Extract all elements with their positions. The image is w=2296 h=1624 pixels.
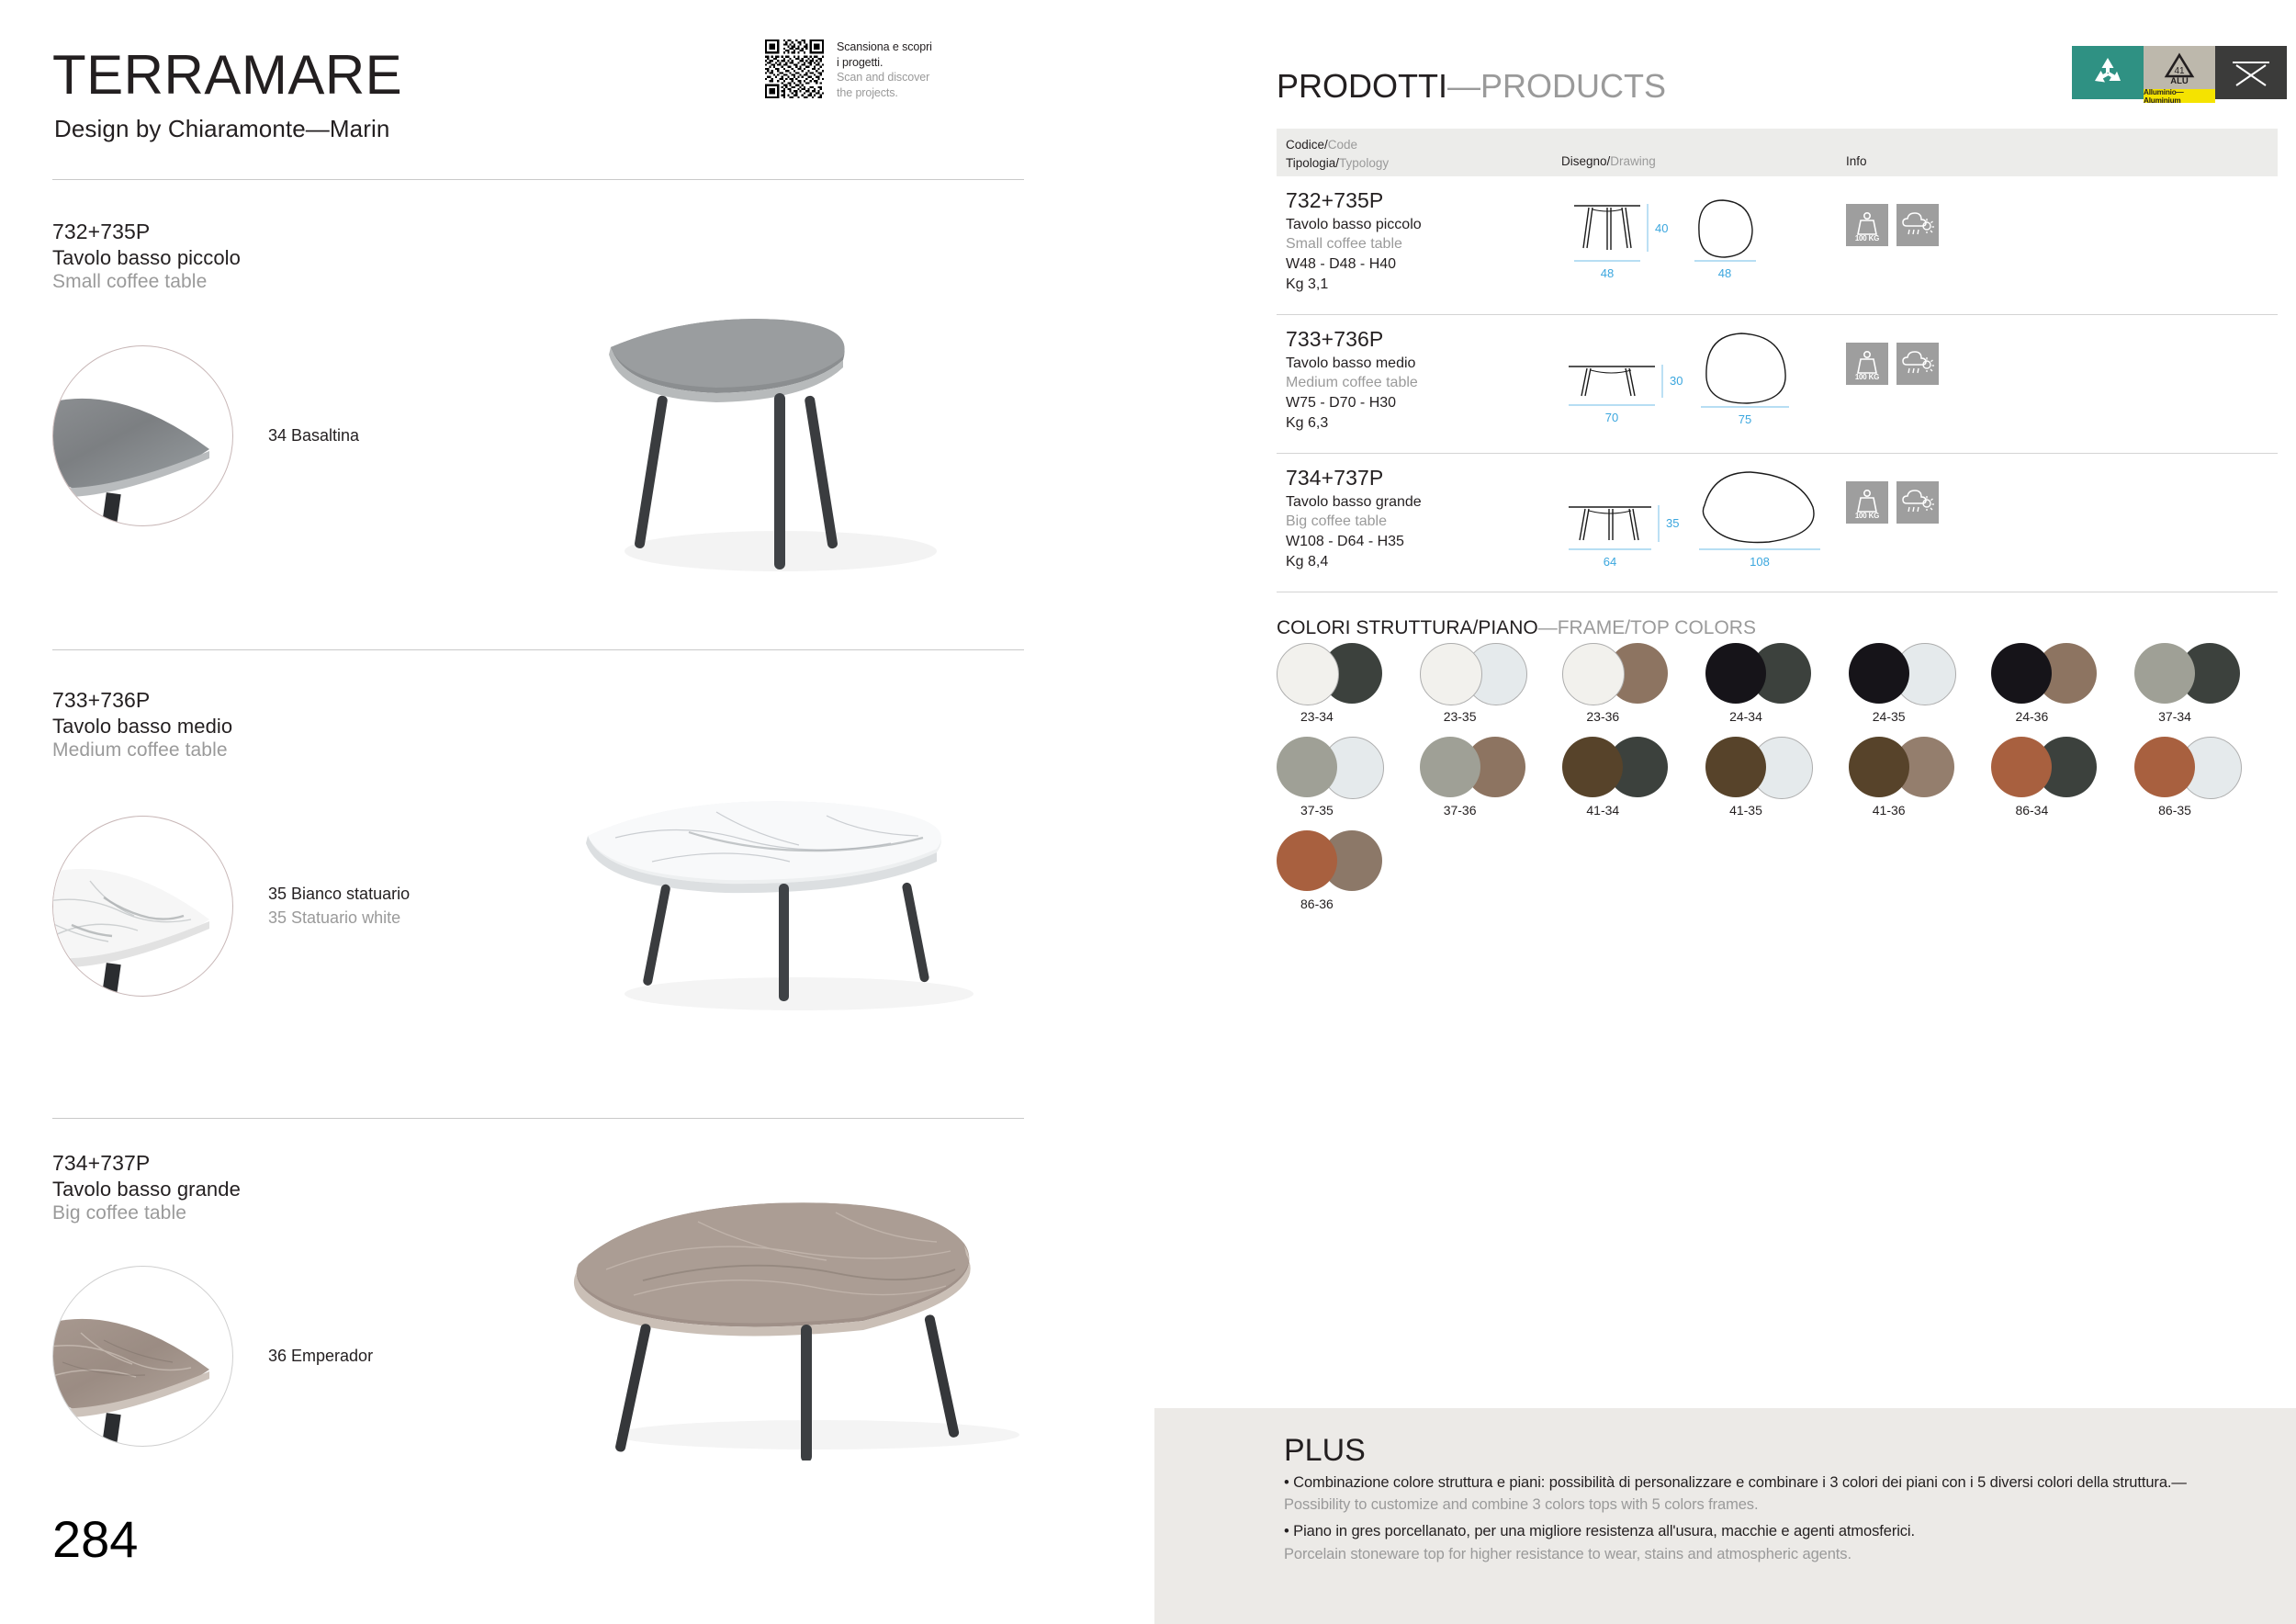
finish-swatch-photo <box>52 816 233 997</box>
finish-swatch-photo <box>52 345 233 526</box>
qr-caption: Scansiona e scopri i progetti. Scan and … <box>837 39 932 101</box>
alu-recycle-icon: 41 ALU <box>2160 51 2199 85</box>
swatch-row: 23-3423-3523-3624-3424-3524-3637-34 <box>1277 643 2278 737</box>
swatch-frame-color <box>1562 737 1623 797</box>
row-code-cell: 732+735P Tavolo basso piccolo Small coff… <box>1286 187 1422 294</box>
color-swatch[interactable]: 24-35 <box>1849 643 1992 724</box>
plus-bullet-1-en: Possibility to customize and combine 3 c… <box>1284 1496 1758 1513</box>
weather-resistant-icon <box>1896 481 1939 524</box>
color-swatch[interactable]: 37-34 <box>2134 643 2278 724</box>
row-type-en: Medium coffee table <box>1286 373 1418 393</box>
drawing-width-top: 48 <box>1718 266 1731 280</box>
weight-load-icon: 100 KG <box>1846 481 1888 524</box>
row-type-en: Small coffee table <box>1286 234 1422 254</box>
header-typology: Typology <box>1339 156 1389 170</box>
product-code: 733+736P <box>52 687 232 714</box>
certification-badges: 41 ALU Alluminio—Aluminium <box>2072 46 2287 103</box>
finish-label-3: 36 Emperador <box>268 1345 373 1368</box>
section-title: PRODOTTI—PRODUCTS <box>1277 70 1666 103</box>
row-code: 734+737P <box>1286 465 1422 492</box>
swatch-code: 86-36 <box>1300 897 1334 911</box>
color-swatch[interactable]: 41-36 <box>1849 737 1992 818</box>
finish-label-2: 35 Bianco statuario 35 Statuario white <box>268 883 410 929</box>
color-swatch[interactable]: 37-35 <box>1277 737 1420 818</box>
row-info-cell: 100 KG <box>1846 481 1939 524</box>
row-drawing-cell: 40 48 48 <box>1552 186 1855 305</box>
swatch-code: 24-35 <box>1873 709 1906 724</box>
swatch-frame-color <box>1277 643 1339 705</box>
product-block-3: 734+737P Tavolo basso grande Big coffee … <box>52 1150 241 1226</box>
color-swatch[interactable]: 86-36 <box>1277 830 1420 911</box>
swatch-frame-color <box>2134 737 2195 797</box>
table-header-drawing: Disegno/Drawing <box>1561 152 1656 171</box>
section-title-en: PRODUCTS <box>1480 67 1666 105</box>
finish-name-it: 35 Bianco statuario <box>268 883 410 906</box>
product-name-it: Tavolo basso grande <box>52 1177 241 1202</box>
plus-bullet-1-it: • Combinazione colore struttura e piani:… <box>1284 1474 2171 1491</box>
swatch-code: 24-34 <box>1729 709 1762 724</box>
swatch-pair <box>1562 643 1672 704</box>
color-swatch[interactable]: 86-34 <box>1991 737 2134 818</box>
swatch-row: 86-36 <box>1277 830 2278 924</box>
drawing-width-top: 108 <box>1750 555 1770 569</box>
swatch-code: 23-34 <box>1300 709 1334 724</box>
product-block-1: 732+735P Tavolo basso piccolo Small coff… <box>52 219 241 295</box>
swatch-pair <box>2134 643 2245 704</box>
color-swatch[interactable]: 23-36 <box>1562 643 1705 724</box>
divider-1 <box>52 179 1024 180</box>
swatch-pair <box>1277 643 1387 704</box>
swatch-frame-color <box>1991 737 2052 797</box>
swatch-frame-color <box>1420 737 1480 797</box>
row-dimensions: W48 - D48 - H40 <box>1286 254 1422 275</box>
swatch-frame-color <box>1705 643 1766 704</box>
drawing-width-top: 75 <box>1739 412 1751 426</box>
qr-line-2: i progetti. <box>837 55 932 71</box>
weather-resistant-icon <box>1896 343 1939 385</box>
no-ironing-badge <box>2215 46 2287 99</box>
qr-line-4: the projects. <box>837 85 932 101</box>
header-tipologia: Tipologia/ <box>1286 156 1339 170</box>
swatch-pair <box>1705 643 1816 704</box>
finish-name-en: 35 Statuario white <box>268 907 410 930</box>
plus-bullet-2: • Piano in gres porcellanato, per una mi… <box>1284 1520 2202 1543</box>
swatch-code: 23-36 <box>1586 709 1619 724</box>
row-weight: Kg 6,3 <box>1286 413 1418 434</box>
swatch-frame-color <box>1277 737 1337 797</box>
header-disegno: Disegno/ <box>1561 154 1610 168</box>
section-title-it: PRODOTTI <box>1277 67 1447 105</box>
row-type-it: Tavolo basso piccolo <box>1286 215 1422 235</box>
table-header-row: Codice/Code Tipologia/Typology Disegno/D… <box>1277 129 2278 176</box>
table-header-code: Codice/Code Tipologia/Typology <box>1286 136 1389 172</box>
row-code: 732+735P <box>1286 187 1422 215</box>
colors-title-en: FRAME/TOP COLORS <box>1558 617 1756 638</box>
row-weight: Kg 8,4 <box>1286 552 1422 572</box>
row-weight: Kg 3,1 <box>1286 275 1422 295</box>
designer-credit: Design by Chiaramonte—Marin <box>54 115 389 143</box>
colors-title-it: COLORI STRUTTURA/PIANO <box>1277 617 1538 638</box>
swatch-code: 23-35 <box>1444 709 1477 724</box>
row-type-it: Tavolo basso medio <box>1286 354 1418 374</box>
row-code: 733+736P <box>1286 326 1418 354</box>
header-codice: Codice/ <box>1286 138 1328 152</box>
drawing-height: 35 <box>1666 516 1679 530</box>
swatch-code: 37-36 <box>1444 803 1477 818</box>
product-name-it: Tavolo basso medio <box>52 714 232 739</box>
swatch-pair <box>1991 643 2101 704</box>
qr-code-icon[interactable] <box>765 39 824 98</box>
product-name-it: Tavolo basso piccolo <box>52 245 241 271</box>
table-row[interactable]: 733+736P Tavolo basso medio Medium coffe… <box>1277 315 2278 454</box>
product-code: 734+737P <box>52 1150 241 1177</box>
finish-label-1: 34 Basaltina <box>268 424 359 447</box>
row-type-en: Big coffee table <box>1286 512 1422 532</box>
right-page: PRODOTTI—PRODUCTS 41 ALU Allumin <box>1148 0 2296 1624</box>
color-swatch[interactable]: 41-34 <box>1562 737 1705 818</box>
swatch-code: 24-36 <box>2015 709 2048 724</box>
alu-badge-label: Alluminio—Aluminium <box>2144 89 2215 103</box>
drawing-width-front: 70 <box>1605 411 1618 424</box>
finish-name-it: 36 Emperador <box>268 1345 373 1368</box>
row-code-cell: 734+737P Tavolo basso grande Big coffee … <box>1286 465 1422 571</box>
swatch-code: 86-35 <box>2158 803 2191 818</box>
swatch-pair <box>1420 643 1530 704</box>
swatch-frame-color <box>1705 737 1766 797</box>
svg-text:41: 41 <box>2174 66 2185 76</box>
header-info: Info <box>1846 154 1867 168</box>
products-table: Codice/Code Tipologia/Typology Disegno/D… <box>1277 129 2278 592</box>
product-name-en: Big coffee table <box>52 1201 241 1225</box>
cross-table-icon <box>2231 58 2271 87</box>
swatch-code: 41-34 <box>1586 803 1619 818</box>
weight-load-icon: 100 KG <box>1846 204 1888 246</box>
page-title: TERRAMARE <box>52 48 402 103</box>
swatch-code: 41-36 <box>1873 803 1906 818</box>
qr-line-1: Scansiona e scopri <box>837 39 932 55</box>
color-swatch[interactable]: 86-35 <box>2134 737 2278 818</box>
swatch-code: 37-34 <box>2158 709 2191 724</box>
product-name-en: Medium coffee table <box>52 739 232 762</box>
swatch-pair <box>1277 737 1387 797</box>
header-code: Code <box>1328 138 1357 152</box>
row-info-cell: 100 KG <box>1846 343 1939 385</box>
swatch-pair <box>2134 737 2245 797</box>
plus-bullet-2-en: Porcelain stoneware top for higher resis… <box>1284 1546 1851 1562</box>
row-dimensions: W108 - D64 - H35 <box>1286 532 1422 552</box>
recycle-badge <box>2072 46 2144 99</box>
qr-block[interactable]: Scansiona e scopri i progetti. Scan and … <box>765 39 932 101</box>
row-type-it: Tavolo basso grande <box>1286 492 1422 513</box>
weight-label: 100 KG <box>1846 234 1888 242</box>
swatch-frame-color <box>1277 830 1337 891</box>
color-swatch[interactable]: 23-35 <box>1420 643 1563 724</box>
colors-section-title: COLORI STRUTTURA/PIANO—FRAME/TOP COLORS <box>1277 617 1756 639</box>
swatch-frame-color <box>1849 737 1909 797</box>
plus-panel: PLUS • Combinazione colore struttura e p… <box>1284 1435 2202 1566</box>
product-photo-1 <box>551 303 1010 592</box>
row-info-cell: 100 KG <box>1846 204 1939 246</box>
finish-row-3: 36 Emperador <box>52 1266 373 1447</box>
product-code: 732+735P <box>52 219 241 245</box>
color-swatch[interactable]: 37-36 <box>1420 737 1563 818</box>
plus-bullet-2-translation: Porcelain stoneware top for higher resis… <box>1284 1543 2202 1566</box>
product-name-en: Small coffee table <box>52 270 241 294</box>
qr-line-3: Scan and discover <box>837 70 932 85</box>
page-number-left: 284 <box>52 1514 138 1565</box>
section-title-dash: — <box>1447 67 1480 105</box>
swatch-frame-color <box>1420 643 1482 705</box>
swatch-frame-color <box>1562 643 1625 705</box>
table-row[interactable]: 734+737P Tavolo basso grande Big coffee … <box>1277 454 2278 592</box>
drawing-width-front: 48 <box>1601 266 1614 280</box>
drawing-width-front: 64 <box>1604 555 1616 569</box>
color-swatch[interactable]: 24-36 <box>1991 643 2134 724</box>
finish-swatch-photo <box>52 1266 233 1447</box>
plus-title: PLUS <box>1284 1435 2202 1468</box>
left-page: TERRAMARE Design by Chiaramonte—Marin <box>0 0 1148 1624</box>
finish-row-2: 35 Bianco statuario 35 Statuario white <box>52 816 410 997</box>
drawing-height: 40 <box>1655 221 1668 235</box>
product-photo-2 <box>551 781 1029 1024</box>
plus-bullet-1-dash: — <box>2171 1474 2186 1491</box>
swatch-pair <box>1277 830 1387 891</box>
colors-title-dash: — <box>1538 617 1558 638</box>
swatch-row: 37-3537-3641-3441-3541-3686-3486-35 <box>1277 737 2278 830</box>
swatch-frame-color <box>1849 643 1909 704</box>
weather-resistant-icon <box>1896 204 1939 246</box>
recycle-icon <box>2089 55 2126 90</box>
swatch-code: 86-34 <box>2015 803 2048 818</box>
swatch-pair <box>1562 737 1672 797</box>
color-swatch[interactable]: 24-34 <box>1705 643 1849 724</box>
swatch-code: 37-35 <box>1300 803 1334 818</box>
swatch-pair <box>1420 737 1530 797</box>
svg-text:ALU: ALU <box>2170 76 2189 85</box>
catalog-spread: TERRAMARE Design by Chiaramonte—Marin <box>0 0 2296 1624</box>
row-code-cell: 733+736P Tavolo basso medio Medium coffe… <box>1286 326 1418 433</box>
header-drawing: Drawing <box>1610 154 1656 168</box>
swatch-frame-color <box>1991 643 2052 704</box>
swatch-pair <box>1991 737 2101 797</box>
product-photo-3 <box>533 1185 1084 1465</box>
divider-3 <box>52 1118 1024 1119</box>
row-drawing-cell: 30 70 75 <box>1552 324 1855 444</box>
aluminium-badge: 41 ALU Alluminio—Aluminium <box>2144 46 2215 103</box>
table-row[interactable]: 732+735P Tavolo basso piccolo Small coff… <box>1277 176 2278 315</box>
swatch-pair <box>1705 737 1816 797</box>
finish-row-1: 34 Basaltina <box>52 345 359 526</box>
plus-bullet-1: • Combinazione colore struttura e piani:… <box>1284 1472 2202 1517</box>
divider-2 <box>52 649 1024 650</box>
swatch-pair <box>1849 737 1959 797</box>
finish-name-it: 34 Basaltina <box>268 424 359 447</box>
row-drawing-cell: 35 64 108 <box>1552 463 1855 582</box>
swatch-code: 41-35 <box>1729 803 1762 818</box>
product-block-2: 733+736P Tavolo basso medio Medium coffe… <box>52 687 232 763</box>
weight-label: 100 KG <box>1846 373 1888 381</box>
color-swatch[interactable]: 23-34 <box>1277 643 1420 724</box>
drawing-height: 30 <box>1670 374 1683 388</box>
color-swatch-grid: 23-3423-3523-3624-3424-3524-3637-34 37-3… <box>1277 643 2278 924</box>
swatch-pair <box>1849 643 1959 704</box>
row-dimensions: W75 - D70 - H30 <box>1286 393 1418 413</box>
weight-label: 100 KG <box>1846 512 1888 520</box>
color-swatch[interactable]: 41-35 <box>1705 737 1849 818</box>
weight-load-icon: 100 KG <box>1846 343 1888 385</box>
plus-bullet-2-it: • Piano in gres porcellanato, per una mi… <box>1284 1523 1915 1539</box>
table-header-info: Info <box>1846 152 1867 171</box>
swatch-frame-color <box>2134 643 2195 704</box>
